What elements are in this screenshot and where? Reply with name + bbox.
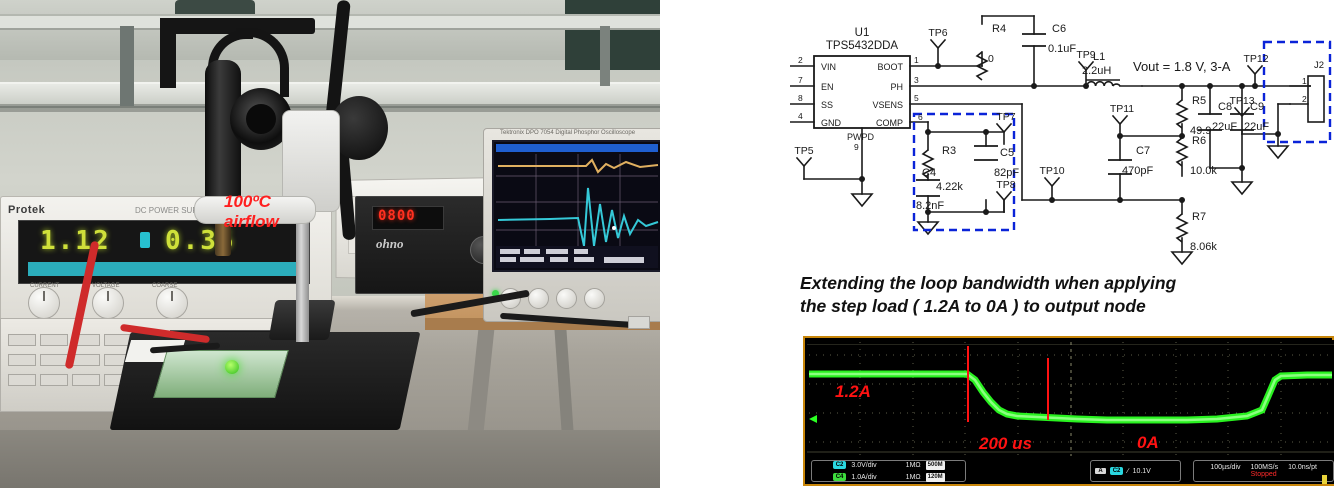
pin-name-comp: COMP (876, 118, 903, 128)
trigger-slope-icon: ∕ (1127, 468, 1128, 475)
wall-upper (0, 0, 660, 60)
channel-settings-panel[interactable]: C2 3.0V/div 1MΩ 500M C4 1.0A/div 1MΩ 120… (811, 460, 966, 482)
ref-r6: R6 (1192, 135, 1206, 147)
annotation-200us: 200 us (979, 434, 1032, 454)
airflow-annotation-line1: 100ºC (224, 192, 279, 212)
pin-num-6: 6 (918, 112, 923, 122)
black-instrument-readout: 0800 (378, 208, 416, 224)
trigger-mode-badge: A (1095, 468, 1105, 474)
figure-caption: Extending the loop bandwidth when applyi… (800, 272, 1300, 318)
oscilloscope-capture: 1.2A 200 us 0A C2 3.0V/div 1MΩ 500M C4 1… (803, 336, 1334, 486)
psu-knob-current[interactable] (28, 287, 60, 319)
trigger-panel[interactable]: A C2 ∕ 10.1V (1090, 460, 1181, 482)
ic-part: TPS5432DDA (826, 40, 899, 52)
psu-knob-coarse[interactable] (156, 287, 188, 319)
j2-pin-2: 2 (1302, 94, 1307, 104)
airflow-annotation-line2: airflow (224, 212, 279, 232)
capture-waveform-area: 1.2A 200 us 0A (807, 340, 1334, 458)
pin-num-7: 7 (798, 75, 803, 85)
pin-num-3: 3 (914, 75, 919, 85)
ref-r4: R4 (992, 23, 1006, 35)
acquisition-status: Stopped (1251, 471, 1277, 478)
power-supply-brand: Protek (8, 204, 128, 218)
channel-impedance-c4: 1MΩ (906, 474, 921, 481)
channel-impedance-c2: 1MΩ (906, 462, 921, 469)
pin-num-4: 4 (798, 111, 803, 121)
trigger-source-badge: C2 (1110, 467, 1124, 475)
tp13-label: TP13 (1229, 95, 1254, 107)
lens-inner (246, 104, 276, 134)
pin-num-1: 1 (914, 55, 919, 65)
board-led (225, 360, 239, 374)
annotation-0a: 0A (1137, 433, 1159, 453)
val-c5: 82pF (994, 167, 1019, 179)
black-instrument-brand: ohno (376, 236, 403, 252)
ref-c5: C5 (1000, 147, 1014, 159)
schematic-svg: U1 TPS5432DDA VIN EN SS GND BOOT PH VSEN… (790, 4, 1334, 270)
waveform-svg (807, 340, 1334, 458)
annotation-1-2a: 1.2A (835, 382, 871, 402)
dark-window-panel (565, 0, 660, 70)
pin-num-2: 2 (798, 55, 803, 65)
pin-num-9: 9 (854, 142, 859, 152)
oscilloscope-screen-graphics (494, 142, 660, 270)
ref-j2: J2 (1314, 60, 1324, 71)
channel-bandwidth-c4: 120M (926, 473, 945, 482)
scope-knob-3[interactable] (556, 288, 577, 309)
ref-c4: C4 (922, 167, 936, 179)
device-under-test-board (153, 350, 289, 398)
timebase-scale: 100µs/div (1210, 464, 1240, 471)
pin-name-ph: PH (890, 82, 903, 92)
tp9-label: TP9 (1076, 49, 1095, 61)
channel-row-c2[interactable]: C2 3.0V/div 1MΩ 500M (833, 461, 945, 470)
timebase-resolution: 10.0ns/pt (1288, 464, 1317, 471)
ref-c6: C6 (1052, 23, 1066, 35)
pin-num-5: 5 (914, 93, 919, 103)
val-c9: 22uF (1244, 121, 1269, 133)
val-r4: 0 (988, 53, 994, 65)
pin-name-vin: VIN (821, 62, 836, 72)
val-c7: 470pF (1122, 165, 1153, 177)
channel-row-c4[interactable]: C4 1.0A/div 1MΩ 120M (833, 473, 945, 482)
caption-line-2: the step load ( 1.2A to 0A ) to output n… (800, 295, 1300, 318)
ref-c7: C7 (1136, 145, 1150, 157)
scope-status-bar: C2 3.0V/div 1MΩ 500M C4 1.0A/div 1MΩ 120… (807, 458, 1334, 484)
pin-name-gnd: GND (821, 118, 842, 128)
channel-scale-c2: 3.0V/div (851, 462, 876, 469)
right-panel: U1 TPS5432DDA VIN EN SS GND BOOT PH VSEN… (660, 0, 1334, 488)
timebase-panel[interactable]: 100µs/div 100MS/s 10.0ns/pt Stopped (1193, 460, 1334, 482)
back-shelf (0, 14, 660, 30)
screenshot-root: Protek DC POWER SUPPLY 3003B 1.12 0.35 C… (0, 0, 1334, 488)
overhead-arm-post (160, 18, 176, 88)
shelf-post-right (600, 26, 610, 86)
ic-ref: U1 (855, 27, 870, 39)
lab-bench-photo: Protek DC POWER SUPPLY 3003B 1.12 0.35 C… (0, 0, 660, 488)
ref-r7: R7 (1192, 211, 1206, 223)
val-l1: 2.2uH (1082, 65, 1111, 77)
tp8-label: TP8 (996, 179, 1015, 191)
val-c6: 0.1uF (1048, 43, 1076, 55)
val-r3: 4.22k (936, 181, 963, 193)
airflow-annotation: 100ºC airflow (224, 192, 279, 232)
shelf-post-left (120, 26, 134, 106)
tp12-label: TP12 (1243, 53, 1268, 65)
psu-display-bar (28, 262, 296, 276)
usb-connector (628, 316, 650, 329)
scope-knob-2[interactable] (528, 288, 549, 309)
oscilloscope-brand-label: Tektronix DPO 7054 Digital Phosphor Osci… (500, 130, 650, 136)
pin-name-pwpd: PWPD (847, 132, 875, 142)
channel-scale-c4: 1.0A/div (851, 474, 876, 481)
psu-display-separator (140, 232, 150, 248)
tp11-label: TP11 (1110, 103, 1134, 115)
ref-r5: R5 (1192, 95, 1206, 107)
j2-pin-1: 1 (1302, 76, 1307, 86)
pin-num-8: 8 (798, 93, 803, 103)
schematic-diagram: U1 TPS5432DDA VIN EN SS GND BOOT PH VSEN… (790, 4, 1334, 270)
ref-r3: R3 (942, 145, 956, 157)
channel-badge-c4: C4 (833, 473, 847, 481)
tp5-label: TP5 (794, 145, 813, 157)
oscilloscope-screen (492, 140, 660, 272)
val-c4: 8.2nF (916, 200, 944, 212)
floor (0, 430, 660, 488)
val-r6: 10.0k (1190, 165, 1217, 177)
tp10-label: TP10 (1039, 165, 1064, 177)
psu-knob-voltage[interactable] (92, 287, 124, 319)
caption-line-1: Extending the loop bandwidth when applyi… (800, 272, 1300, 295)
pin-name-vsens: VSENS (872, 100, 903, 110)
scope-knob-4[interactable] (584, 288, 605, 309)
tp6-label: TP6 (928, 27, 947, 39)
pin-name-ss: SS (821, 100, 833, 110)
run-indicator (1322, 475, 1327, 484)
pin-name-en: EN (821, 82, 834, 92)
tp7-label: TP7 (996, 111, 1015, 123)
pin-name-boot: BOOT (877, 62, 903, 72)
timebase-sample-rate: 100MS/s (1251, 464, 1279, 471)
val-r7: 8.06k (1190, 241, 1217, 253)
channel-badge-c2: C2 (833, 461, 847, 469)
psu-current-readout: 1.12 (40, 226, 111, 256)
trigger-level: 10.1V (1133, 468, 1151, 475)
vout-label: Vout = 1.8 V, 3-A (1133, 59, 1231, 74)
val-c8: 22uF (1212, 121, 1237, 133)
channel-bandwidth-c2: 500M (926, 461, 945, 470)
